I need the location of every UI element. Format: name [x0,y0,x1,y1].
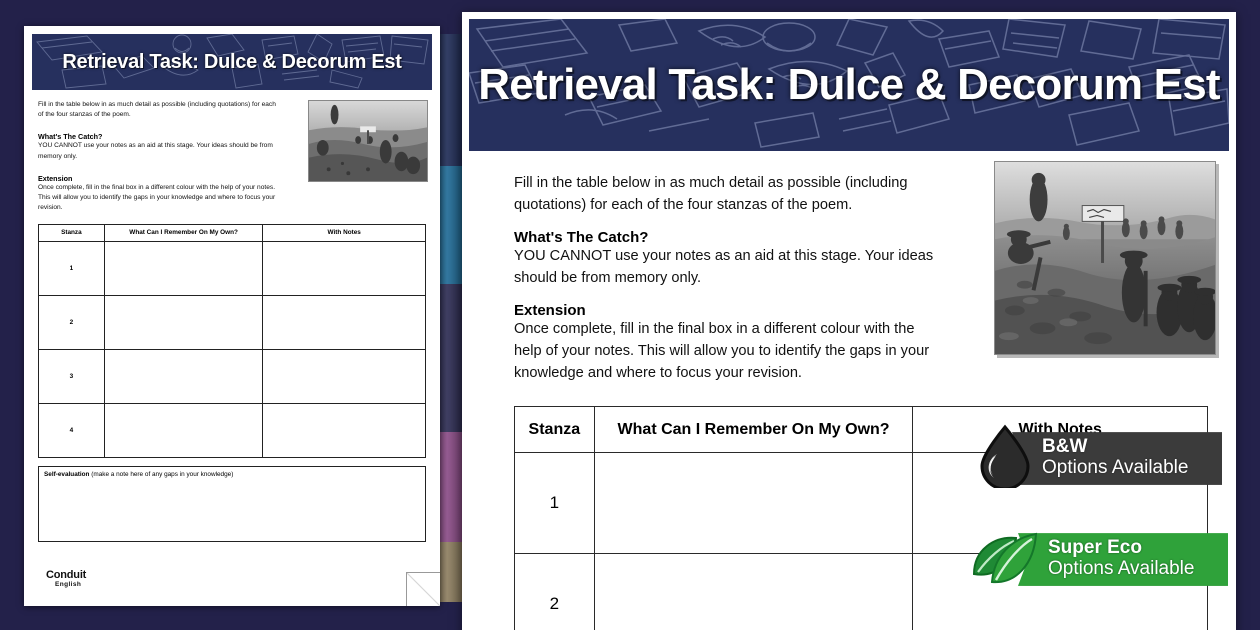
extension-paragraph: Once complete, fill in the final box in … [514,319,934,384]
thumbnail-notes-cell[interactable] [263,349,426,403]
screenshot-stage: Retrieval Task: Dulce & Decorum Est [0,0,1260,630]
stanza-number: 1 [515,453,595,554]
own-answer-cell[interactable] [594,453,913,554]
super-eco-options-badge[interactable]: Super Eco Options Available [968,526,1228,593]
thumbnail-intro-paragraph: Fill in the table below in as much detai… [38,100,276,120]
thumbnail-retrieval-table: Stanza What Can I Remember On My Own? Wi… [38,224,426,458]
thumbnail-self-evaluation-title: Self-evaluation [44,471,89,478]
main-text-block: Fill in the table below in as much detai… [514,173,934,384]
th-stanza: Stanza [515,407,595,453]
thumbnail-own-cell[interactable] [104,349,263,403]
thumbnail-body: Fill in the table below in as much detai… [24,90,440,542]
thumbnail-own-cell[interactable] [104,241,263,295]
eco-badge-line2: Options Available [1048,558,1212,579]
thumbnail-own-cell[interactable] [104,403,263,457]
thumbnail-self-evaluation-box[interactable]: Self-evaluation (make a note here of any… [38,466,426,542]
thumbnail-extension-heading: Extension [38,174,276,183]
page-curl-corner [406,572,440,606]
thumbnail-catch-paragraph: YOU CANNOT use your notes as an aid at t… [38,141,276,161]
thumbnail-extension-paragraph: Once complete, fill in the final box in … [38,183,276,214]
catch-paragraph: YOU CANNOT use your notes as an aid at t… [514,246,934,289]
table-row: 1 [39,241,426,295]
bw-badge-line2: Options Available [1042,457,1206,478]
leaf-icon [968,526,1040,593]
own-answer-cell[interactable] [594,554,913,630]
bw-options-badge[interactable]: B&W Options Available [976,424,1222,493]
catch-heading: What's The Catch? [514,229,934,246]
thumbnail-stanza-number: 2 [39,295,105,349]
thumbnail-trench-photo [308,100,428,182]
extension-heading: Extension [514,302,934,319]
bw-badge-bar: B&W Options Available [1012,432,1222,485]
trench-photo [994,161,1216,355]
thumbnail-self-evaluation-label: Self-evaluation (make a note here of any… [44,471,420,478]
thumbnail-notes-cell[interactable] [263,295,426,349]
thumbnail-table-header-row: Stanza What Can I Remember On My Own? Wi… [39,224,426,241]
bw-badge-line1: B&W [1042,437,1206,456]
thumbnail-conduit-logo: Conduit English [46,569,86,588]
thumbnail-stanza-number: 1 [39,241,105,295]
thumbnail-text-block: Fill in the table below in as much detai… [38,100,276,214]
stanza-number: 2 [515,554,595,630]
logo-subject: English [55,581,86,588]
table-row: 2 [39,295,426,349]
thumbnail-stanza-number: 3 [39,349,105,403]
thumbnail-stanza-number: 4 [39,403,105,457]
thumbnail-th-notes: With Notes [263,224,426,241]
thumbnail-self-evaluation-hint: (make a note here of any gaps in your kn… [89,471,233,478]
ink-drop-icon [976,424,1034,493]
eco-badge-line1: Super Eco [1048,538,1212,557]
logo-name: Conduit [46,569,86,581]
table-row: 3 [39,349,426,403]
thumbnail-notes-cell[interactable] [263,403,426,457]
table-row: 4 [39,403,426,457]
thumbnail-th-own: What Can I Remember On My Own? [104,224,263,241]
th-own: What Can I Remember On My Own? [594,407,913,453]
thumbnail-page-preview[interactable]: Retrieval Task: Dulce & Decorum Est [24,26,440,606]
thumbnail-notes-cell[interactable] [263,241,426,295]
thumbnail-catch-heading: What's The Catch? [38,132,276,141]
thumbnail-title: Retrieval Task: Dulce & Decorum Est [62,51,401,74]
eco-badge-bar: Super Eco Options Available [1018,533,1228,586]
thumbnail-th-stanza: Stanza [39,224,105,241]
main-page-title: Retrieval Task: Dulce & Decorum Est [478,60,1219,110]
main-banner: Retrieval Task: Dulce & Decorum Est [469,19,1229,151]
thumbnail-banner: Retrieval Task: Dulce & Decorum Est [32,34,432,90]
thumbnail-own-cell[interactable] [104,295,263,349]
intro-paragraph: Fill in the table below in as much detai… [514,173,934,216]
